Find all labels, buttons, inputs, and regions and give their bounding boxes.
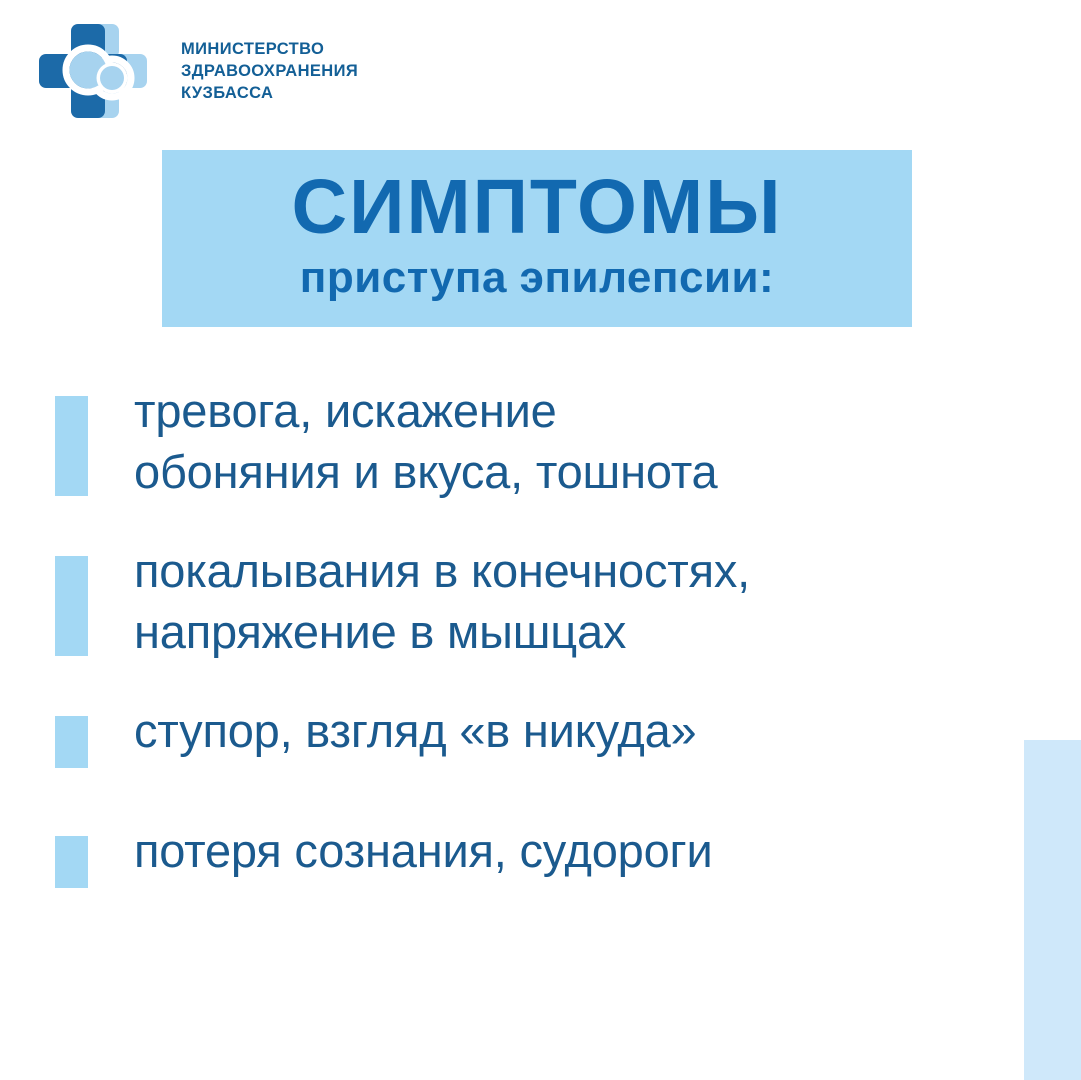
symptom-text-4: потеря сознания, судороги bbox=[134, 820, 713, 881]
symptom-item-1: тревога, искажение обоняния и вкуса, тош… bbox=[55, 380, 1045, 502]
symptom-item-3: ступор, взгляд «в никуда» bbox=[55, 700, 1045, 768]
bullet-bar-icon bbox=[55, 396, 88, 496]
title-banner: СИМПТОМЫ приступа эпилепсии: bbox=[162, 150, 912, 327]
symptom-text-1: тревога, искажение обоняния и вкуса, тош… bbox=[134, 380, 717, 502]
bullet-bar-icon bbox=[55, 836, 88, 888]
ministry-health-cross-logo bbox=[33, 22, 163, 120]
title-subtitle: приступа эпилепсии: bbox=[300, 255, 774, 301]
bullet-bar-icon bbox=[55, 716, 88, 768]
symptom-item-4: потеря сознания, судороги bbox=[55, 820, 1045, 888]
symptom-item-2: покалывания в конечностях, напряжение в … bbox=[55, 540, 1045, 662]
symptom-text-3: ступор, взгляд «в никуда» bbox=[134, 700, 696, 761]
symptom-list: тревога, искажение обоняния и вкуса, тош… bbox=[55, 380, 1045, 940]
title-main: СИМПТОМЫ bbox=[292, 170, 783, 245]
bullet-bar-icon bbox=[55, 556, 88, 656]
poster-canvas: МИНИСТЕРСТВО ЗДРАВООХРАНЕНИЯ КУЗБАССА СИ… bbox=[0, 0, 1081, 1080]
symptom-text-2: покалывания в конечностях, напряжение в … bbox=[134, 540, 750, 662]
ministry-name-text: МИНИСТЕРСТВО ЗДРАВООХРАНЕНИЯ КУЗБАССА bbox=[181, 37, 358, 104]
ministry-header: МИНИСТЕРСТВО ЗДРАВООХРАНЕНИЯ КУЗБАССА bbox=[33, 22, 358, 120]
